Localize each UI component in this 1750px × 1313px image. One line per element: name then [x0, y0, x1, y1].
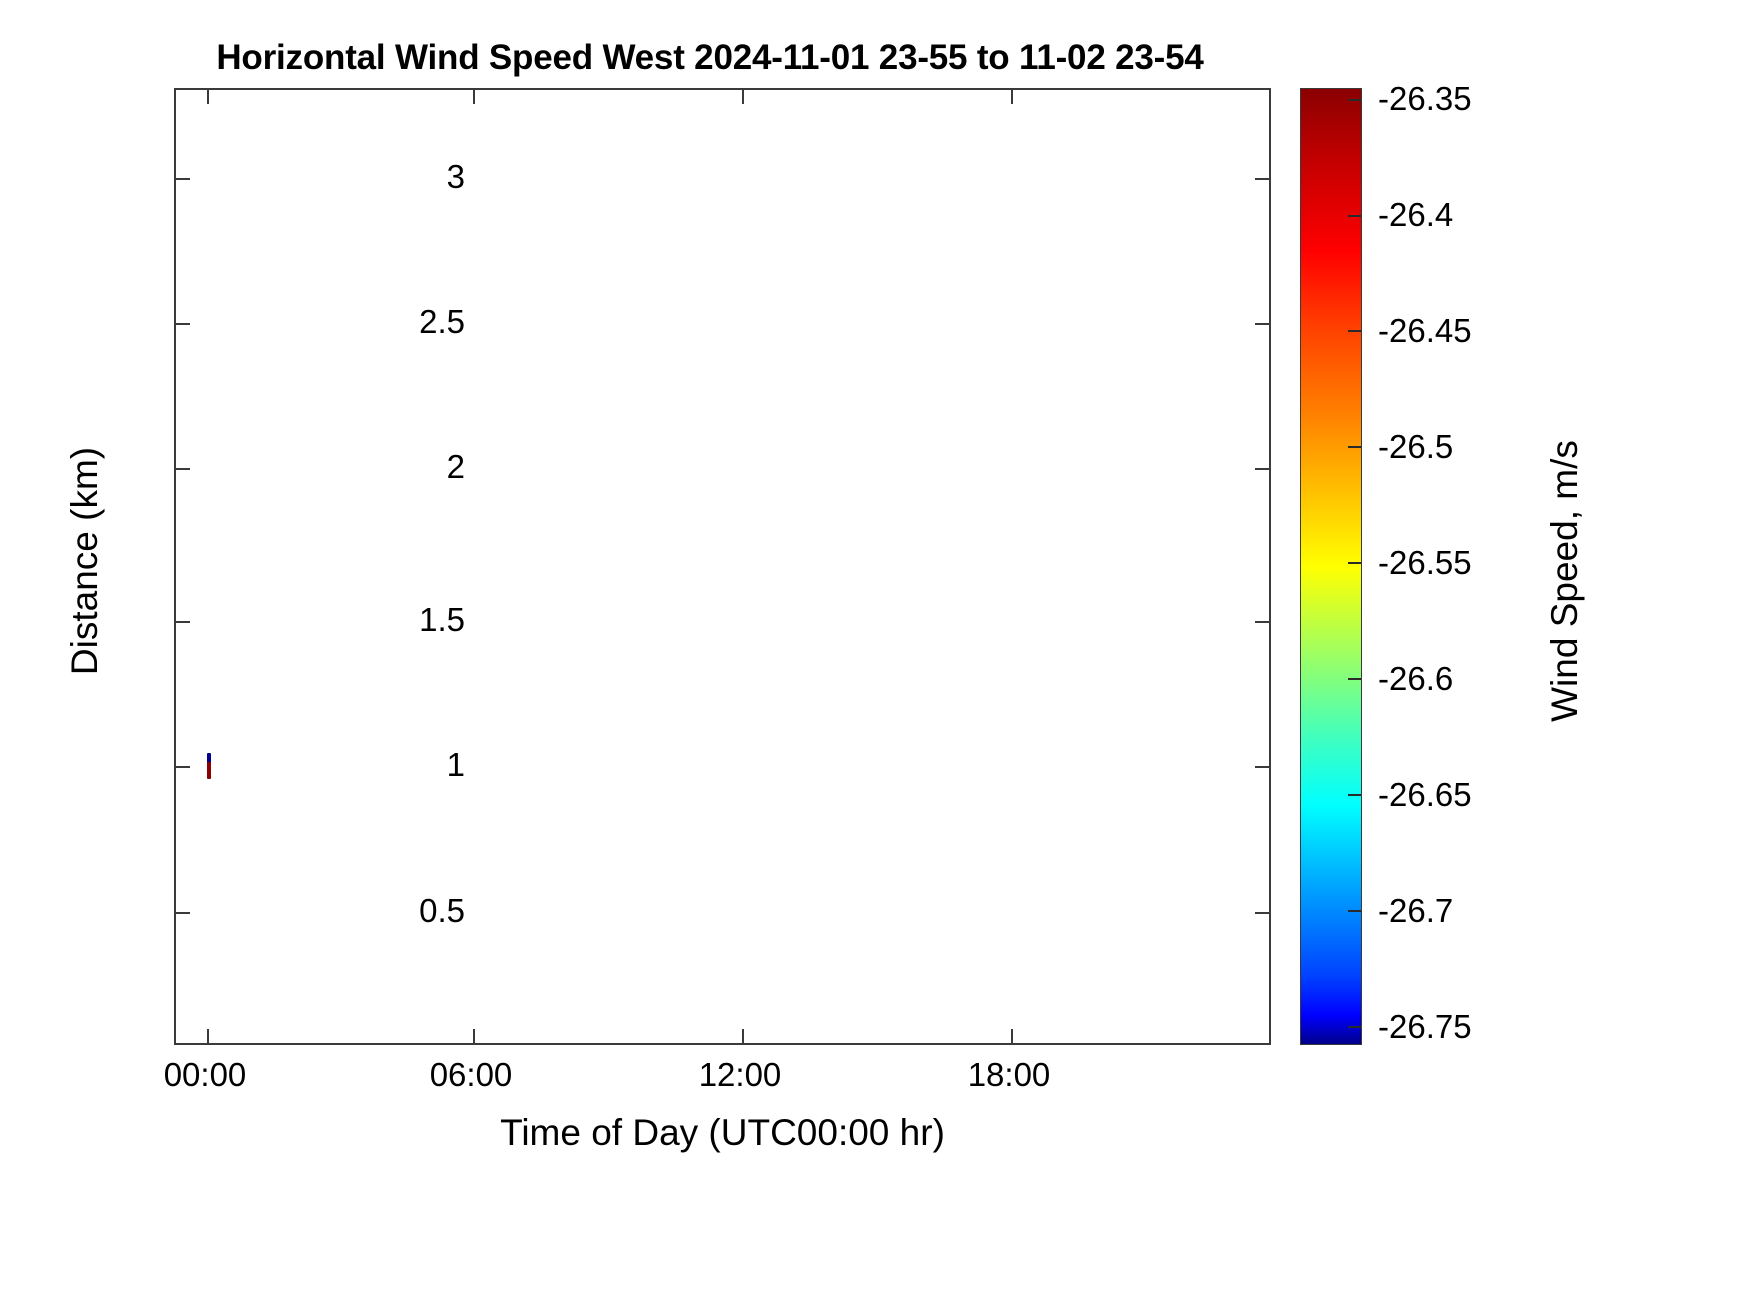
y-tick-label-2: 2 [345, 448, 465, 486]
y-tick-2-5 [176, 323, 190, 325]
y-tick-label-3: 3 [345, 158, 465, 196]
colorbar-label-7: -26.65 [1378, 776, 1472, 814]
x-tick-label-0600: 06:00 [361, 1056, 581, 1094]
y-tick-right-1 [1255, 766, 1269, 768]
colorbar-tick-6 [1348, 678, 1361, 680]
y-tick-1-5 [176, 621, 190, 623]
x-tick-top-1800 [1011, 90, 1013, 104]
colorbar-label-6: -26.6 [1378, 660, 1453, 698]
y-tick-3 [176, 178, 190, 180]
chart-title: Horizontal Wind Speed West 2024-11-01 23… [0, 38, 1420, 78]
colorbar-tick-4 [1348, 446, 1361, 448]
x-tick-0600 [473, 1029, 475, 1043]
x-tick-1200 [742, 1029, 744, 1043]
plot-area[interactable] [174, 88, 1271, 1045]
x-tick-top-0000 [207, 90, 209, 104]
colorbar-label-4: -26.5 [1378, 428, 1453, 466]
colorbar-label-5: -26.55 [1378, 544, 1472, 582]
figure-canvas: Horizontal Wind Speed West 2024-11-01 23… [0, 0, 1750, 1313]
y-tick-right-2 [1255, 468, 1269, 470]
y-tick-right-0-5 [1255, 912, 1269, 914]
x-tick-top-0600 [473, 90, 475, 104]
data-point-marker [207, 753, 211, 779]
y-axis-title: Distance (km) [64, 131, 106, 991]
y-tick-0-5 [176, 912, 190, 914]
colorbar-label-8: -26.7 [1378, 892, 1453, 930]
x-tick-0000 [207, 1029, 209, 1043]
y-tick-label-2-5: 2.5 [345, 303, 465, 341]
colorbar-tick-7 [1348, 794, 1361, 796]
colorbar-tick-9 [1348, 1026, 1361, 1028]
colorbar-tick-1 [1348, 99, 1361, 101]
colorbar-tick-3 [1348, 330, 1361, 332]
y-tick-right-3 [1255, 178, 1269, 180]
y-tick-label-1-5: 1.5 [345, 601, 465, 639]
y-tick-right-2-5 [1255, 323, 1269, 325]
y-tick-label-0-5: 0.5 [345, 892, 465, 930]
x-tick-top-1200 [742, 90, 744, 104]
x-tick-label-1200: 12:00 [630, 1056, 850, 1094]
colorbar-label-3: -26.45 [1378, 312, 1472, 350]
y-tick-label-1: 1 [345, 746, 465, 784]
y-tick-right-1-5 [1255, 621, 1269, 623]
x-axis-title: Time of Day (UTC00:00 hr) [174, 1112, 1271, 1154]
colorbar-tick-2 [1348, 215, 1361, 217]
x-tick-1800 [1011, 1029, 1013, 1043]
colorbar-axis-title: Wind Speed, m/s [1544, 251, 1586, 911]
colorbar-label-9: -26.75 [1378, 1008, 1472, 1046]
y-tick-2 [176, 468, 190, 470]
colorbar[interactable] [1300, 88, 1362, 1045]
x-tick-label-1800: 18:00 [899, 1056, 1119, 1094]
x-tick-label-0000: 00:00 [95, 1056, 315, 1094]
colorbar-label-1: -26.35 [1378, 80, 1472, 118]
y-tick-1 [176, 766, 190, 768]
colorbar-label-2: -26.4 [1378, 196, 1453, 234]
colorbar-tick-8 [1348, 910, 1361, 912]
colorbar-tick-5 [1348, 562, 1361, 564]
